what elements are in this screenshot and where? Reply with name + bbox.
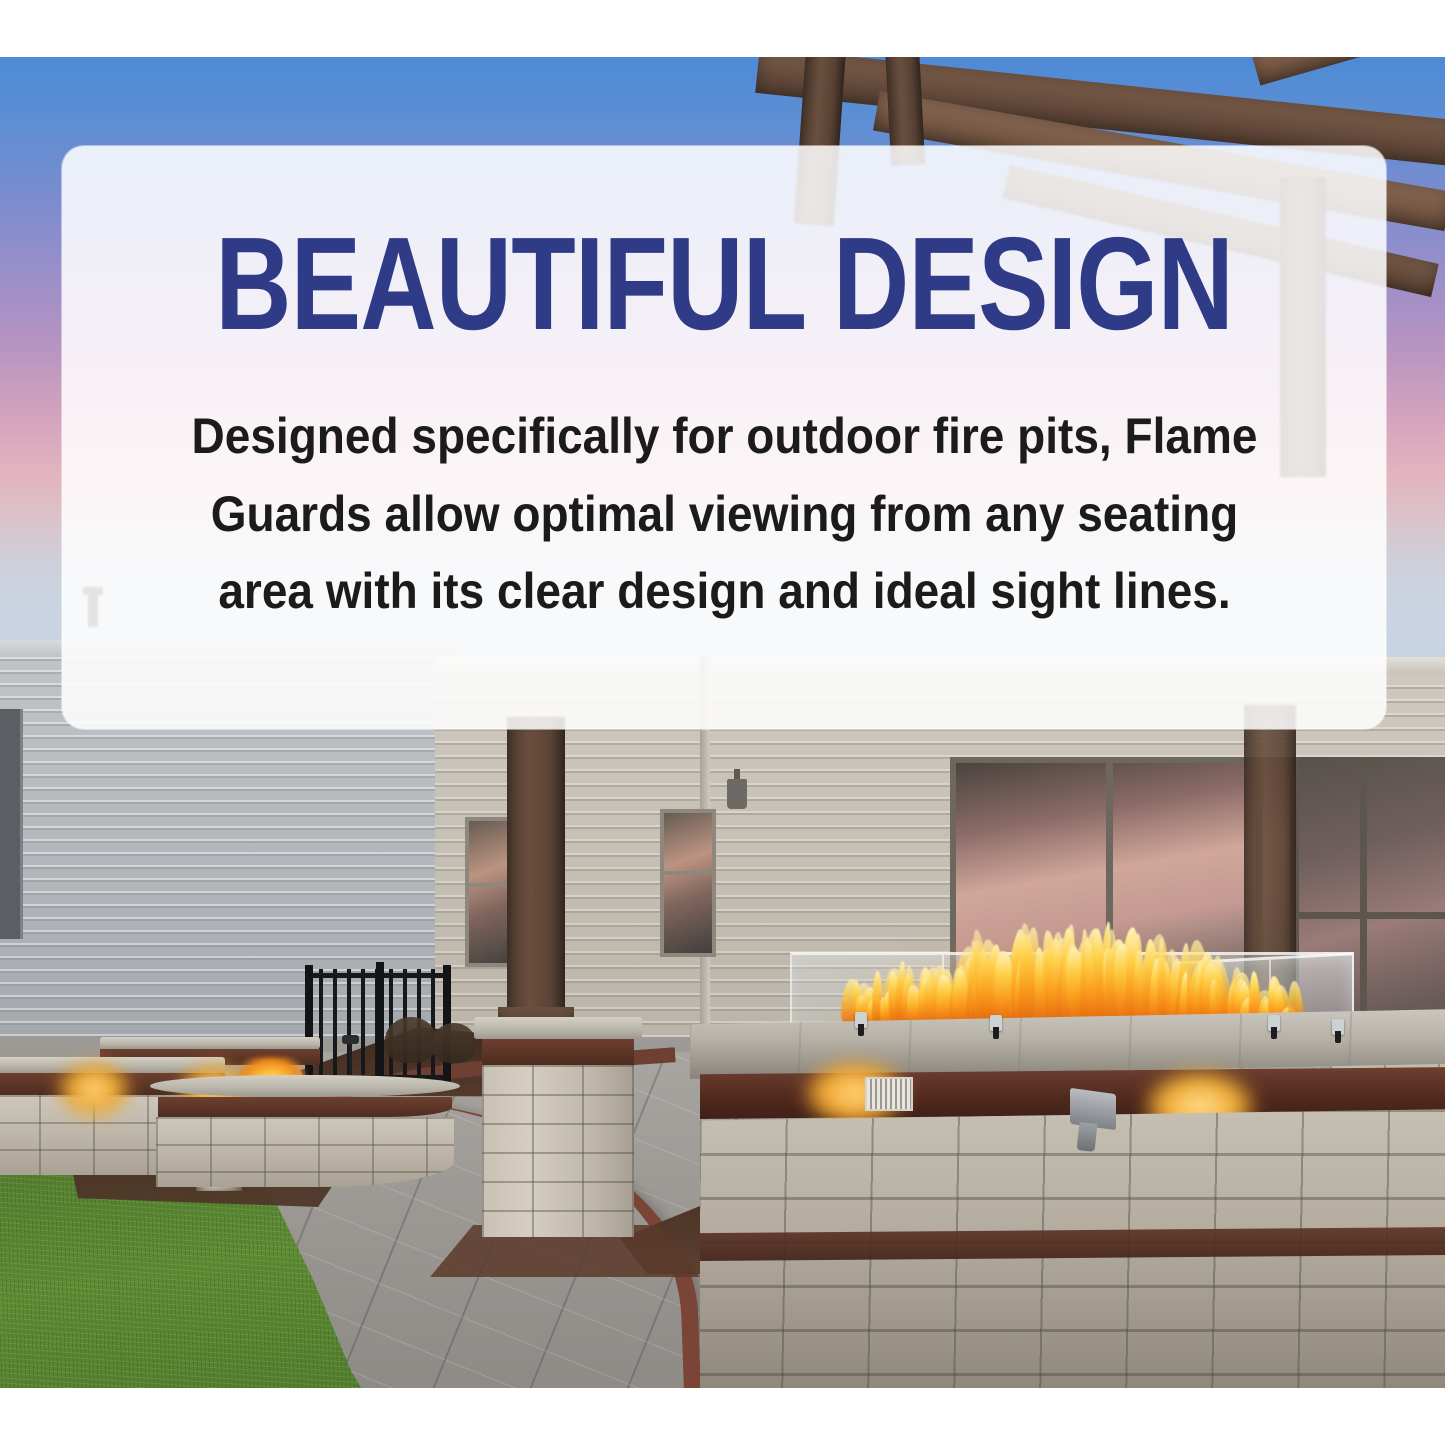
back-wall-cap (100, 1037, 320, 1049)
clip-foot (858, 1024, 864, 1036)
round-stone-fire-pit (150, 1075, 460, 1185)
pergola-post-center (507, 717, 565, 1029)
fire-pit-accent-band (158, 1097, 452, 1117)
stone-pillar (482, 1017, 634, 1237)
flame-guard-clip (1332, 1019, 1344, 1035)
pillar-cap (474, 1017, 642, 1039)
burner-vent (865, 1077, 913, 1111)
text-overlay-card: BEAUTIFUL DESIGN Designed specifically f… (62, 146, 1386, 729)
right-bay-mullion-horizontal (1290, 912, 1445, 919)
shrub-left (385, 1017, 437, 1063)
wall-sconce (727, 779, 747, 809)
house-window-center (660, 809, 716, 957)
fence-post-mid (376, 962, 384, 1090)
flame-guard-clip (990, 1015, 1002, 1031)
path-light-head (342, 1035, 359, 1044)
clip-foot (1271, 1027, 1277, 1039)
window-mullion (664, 871, 712, 875)
flame-guard-clip (1268, 1015, 1280, 1031)
banner-image: BEAUTIFUL DESIGN Designed specifically f… (0, 0, 1445, 1445)
clip-foot (993, 1027, 999, 1039)
uplight-seat-wall (55, 1059, 133, 1119)
letterbox-top (0, 0, 1445, 57)
clip-foot (1335, 1031, 1341, 1043)
page-title: BEAUTIFUL DESIGN (215, 218, 1233, 350)
body-copy: Designed specifically for outdoor fire p… (170, 398, 1279, 631)
gray-house-door (0, 709, 23, 939)
scupper-lip (1077, 1122, 1098, 1152)
pillar-accent-band (482, 1039, 634, 1065)
fire-pit-cap (150, 1075, 460, 1097)
fire-pit-stone (156, 1117, 454, 1187)
letterbox-bottom (0, 1388, 1445, 1445)
pillar-stone (482, 1065, 634, 1237)
window-pane (664, 813, 712, 953)
flame-guard-clip (855, 1012, 867, 1028)
shrub-right (432, 1023, 476, 1063)
